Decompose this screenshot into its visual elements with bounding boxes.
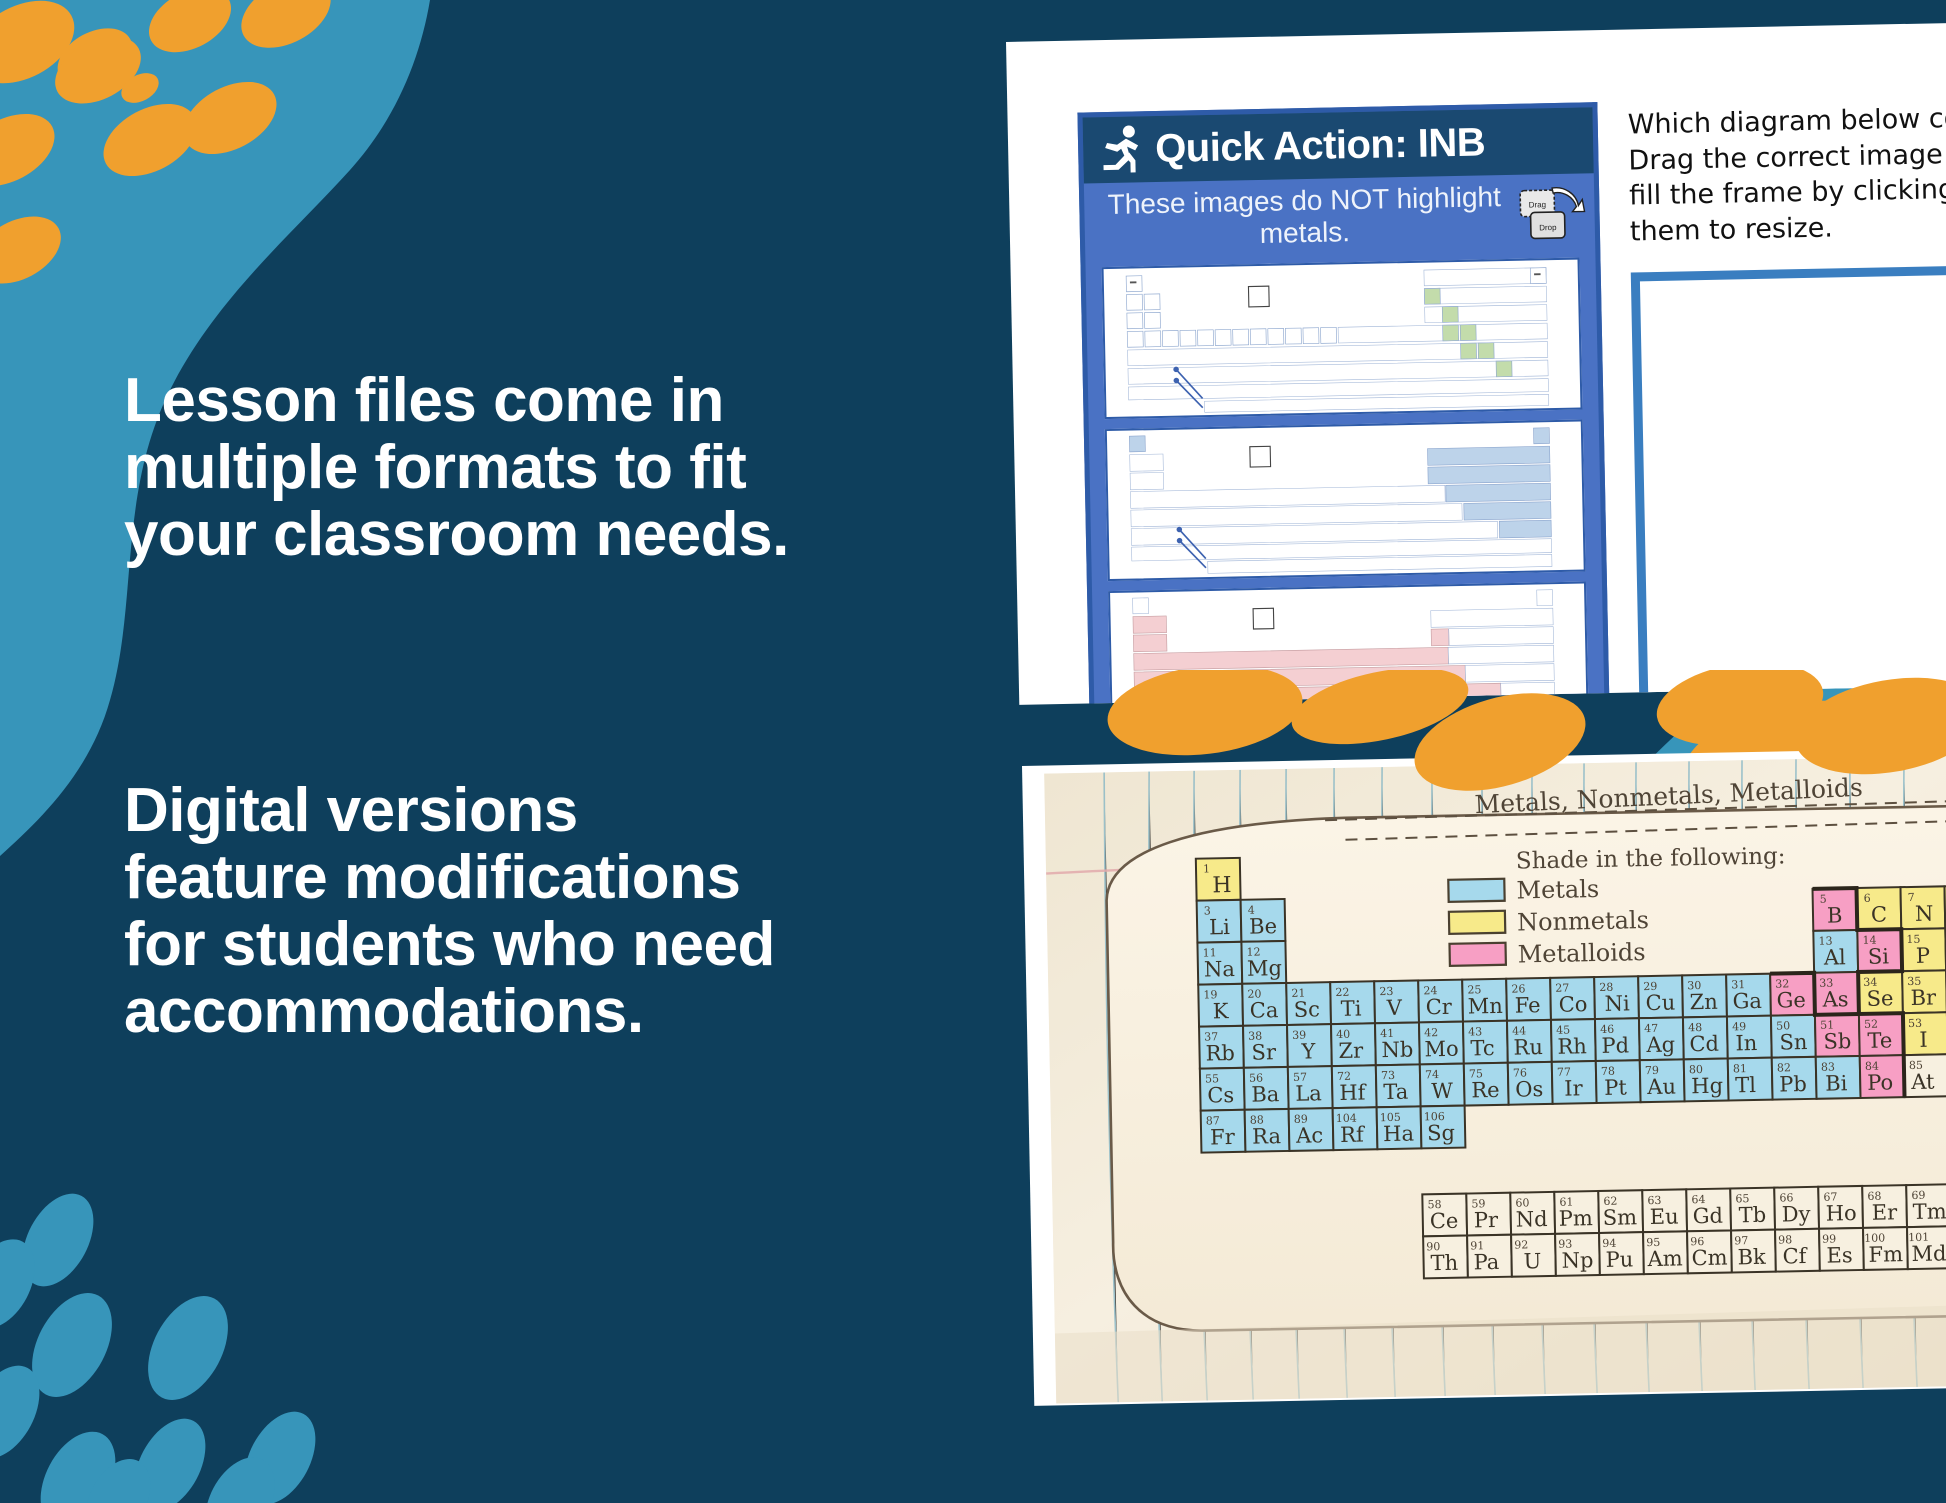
pt-cell: 42Mo xyxy=(1419,1022,1464,1065)
svg-text:Pt: Pt xyxy=(1604,1075,1628,1099)
svg-text:Hf: Hf xyxy=(1339,1080,1368,1105)
student-notebook-photo: Metals, Nonmetals, Metalloids Shade in t… xyxy=(1044,754,1946,1403)
pt-cell: 5B xyxy=(1813,888,1858,931)
svg-text:I: I xyxy=(1919,1028,1928,1052)
svg-text:Ca: Ca xyxy=(1250,998,1279,1023)
pt-cell: 62Sm xyxy=(1598,1190,1643,1233)
pt-cell: 99Es xyxy=(1819,1228,1864,1271)
svg-text:Sb: Sb xyxy=(1823,1029,1851,1054)
pt-cell: 64Gd xyxy=(1686,1188,1731,1231)
pt-cell: 69Tm xyxy=(1906,1184,1946,1227)
svg-text:Th: Th xyxy=(1430,1251,1458,1276)
pt-cell: 67Ho xyxy=(1818,1186,1863,1229)
pt-cell: 81Tl xyxy=(1728,1058,1773,1101)
svg-text:Gd: Gd xyxy=(1693,1204,1724,1229)
pt-cell: 89Ac xyxy=(1289,1108,1334,1151)
pt-cell: 52Te xyxy=(1859,1013,1904,1056)
svg-text:Re: Re xyxy=(1471,1078,1500,1103)
pt-cell: 94Pu xyxy=(1599,1232,1644,1275)
pt-cell: 82Pb xyxy=(1772,1057,1817,1100)
pt-cell: 98Cf xyxy=(1775,1229,1820,1272)
svg-text:6: 6 xyxy=(1864,892,1871,905)
pt-cell: 59Pr xyxy=(1466,1193,1511,1236)
headline-line: Digital versions xyxy=(124,778,864,845)
svg-text:Nb: Nb xyxy=(1381,1038,1413,1063)
svg-text:Ce: Ce xyxy=(1430,1209,1459,1234)
svg-text:Rb: Rb xyxy=(1205,1041,1235,1066)
svg-text:V: V xyxy=(1385,996,1402,1020)
quick-action-header: Quick Action: INB xyxy=(1083,107,1594,183)
svg-text:5: 5 xyxy=(1820,893,1827,906)
pt-cell: 79Au xyxy=(1640,1059,1685,1102)
pt-cell: 25Mn xyxy=(1462,979,1507,1022)
pt-cell: 53I xyxy=(1903,1012,1946,1055)
svg-text:Na: Na xyxy=(1204,957,1235,982)
svg-text:Zn: Zn xyxy=(1689,990,1718,1015)
svg-text:Ga: Ga xyxy=(1732,989,1762,1014)
quick-action-subtitle: These images do NOT highlight metals. xyxy=(1107,181,1501,249)
pt-cell: 3 Li xyxy=(1197,900,1242,943)
periodic-table-thumbnail[interactable] xyxy=(1102,257,1583,419)
pt-cell: 43Tc xyxy=(1463,1021,1508,1064)
svg-text:In: In xyxy=(1735,1031,1757,1055)
svg-text:Sg: Sg xyxy=(1427,1121,1455,1146)
pt-cell: 85At xyxy=(1904,1054,1946,1097)
pt-cell: 14Si xyxy=(1857,929,1902,972)
pt-cell: 50Sn xyxy=(1771,1015,1816,1058)
pt-cell: 41Nb xyxy=(1375,1022,1420,1065)
svg-text:Ge: Ge xyxy=(1776,988,1806,1013)
pt-cell: 27Co xyxy=(1550,977,1595,1020)
pt-cell: 44Ru xyxy=(1507,1020,1552,1063)
svg-text:Co: Co xyxy=(1558,992,1587,1017)
svg-text:Se: Se xyxy=(1866,986,1893,1011)
svg-text:Fe: Fe xyxy=(1514,993,1540,1017)
pt-cell: 77Ir xyxy=(1552,1061,1597,1104)
svg-text:Es: Es xyxy=(1826,1243,1853,1267)
legend-prompt: Shade in the following: xyxy=(1516,843,1786,874)
drag-drop-icon[interactable]: Drag Drop xyxy=(1516,181,1589,244)
svg-text:Te: Te xyxy=(1867,1028,1892,1052)
pt-cell: 45Rh xyxy=(1551,1019,1596,1062)
headline-block-2: Digital versions feature modifications f… xyxy=(124,778,864,1046)
legend-swatch-nonmetals: Nonmetals xyxy=(1449,906,1649,938)
svg-text:At: At xyxy=(1910,1070,1935,1094)
headline-line: multiple formats to fit xyxy=(124,435,864,502)
svg-text:Pu: Pu xyxy=(1605,1247,1633,1272)
pt-cell: 11 Na xyxy=(1197,942,1242,985)
pt-cell: 33As xyxy=(1814,972,1859,1015)
svg-text:La: La xyxy=(1295,1081,1322,1106)
svg-text:Tl: Tl xyxy=(1735,1073,1756,1097)
pt-cell: 20Ca xyxy=(1242,983,1287,1026)
pt-cell: 93Np xyxy=(1555,1233,1600,1276)
pt-cell: 55Cs xyxy=(1200,1068,1245,1111)
svg-text:Au: Au xyxy=(1646,1075,1676,1100)
svg-text:Ti: Ti xyxy=(1340,997,1361,1021)
svg-text:Cd: Cd xyxy=(1689,1032,1719,1057)
svg-text:Sr: Sr xyxy=(1251,1040,1277,1064)
svg-text:Pm: Pm xyxy=(1559,1206,1594,1231)
pt-cell: 51Sb xyxy=(1815,1014,1860,1057)
svg-text:Mg: Mg xyxy=(1247,956,1282,981)
svg-text:Ac: Ac xyxy=(1295,1123,1323,1148)
svg-text:Si: Si xyxy=(1868,944,1890,968)
svg-text:Nd: Nd xyxy=(1516,1207,1548,1232)
pt-cell: 88Ra xyxy=(1245,1109,1290,1152)
pt-cell: 31Ga xyxy=(1726,974,1771,1017)
pt-cell: 48Cd xyxy=(1683,1017,1728,1060)
svg-text:Ba: Ba xyxy=(1251,1082,1279,1107)
pt-cell: 80Hg xyxy=(1684,1059,1729,1102)
svg-text:Hg: Hg xyxy=(1691,1074,1723,1099)
svg-text:Pd: Pd xyxy=(1601,1033,1629,1058)
svg-text:Cm: Cm xyxy=(1691,1246,1728,1271)
pt-cell: 28Ni xyxy=(1594,976,1639,1019)
pt-cell: 105Ha xyxy=(1377,1106,1422,1149)
pt-cell: 95Am xyxy=(1643,1231,1688,1274)
pt-cell: 97Bk xyxy=(1731,1230,1776,1273)
svg-text:P: P xyxy=(1916,944,1931,968)
svg-text:Li: Li xyxy=(1209,915,1230,939)
pt-cell: 66Dy xyxy=(1774,1187,1819,1230)
running-person-icon xyxy=(1099,124,1144,175)
svg-text:Metals: Metals xyxy=(1516,875,1599,905)
svg-text:U: U xyxy=(1523,1249,1541,1273)
svg-text:As: As xyxy=(1821,987,1848,1012)
orange-seam-blobs xyxy=(1100,670,1946,800)
pt-cell: 104Rf xyxy=(1333,1107,1378,1150)
svg-text:Zr: Zr xyxy=(1338,1038,1364,1062)
svg-text:Np: Np xyxy=(1561,1248,1593,1273)
quick-action-subtitle-wrap: These images do NOT highlight metals. Dr… xyxy=(1084,173,1595,257)
pt-cell: 87Fr xyxy=(1201,1110,1246,1153)
svg-text:Sc: Sc xyxy=(1294,997,1321,1021)
svg-text:Drop: Drop xyxy=(1539,223,1557,232)
pt-cell: 76Os xyxy=(1508,1062,1553,1105)
pt-cell: 21Sc xyxy=(1286,982,1331,1025)
svg-text:Ni: Ni xyxy=(1604,991,1630,1015)
pt-cell: 56Ba xyxy=(1244,1067,1289,1110)
svg-text:Ra: Ra xyxy=(1252,1124,1281,1149)
quick-action-right-column: Which diagram below cor Drag the correct… xyxy=(1627,96,1946,705)
svg-text:Sn: Sn xyxy=(1779,1030,1807,1055)
svg-text:Metalloids: Metalloids xyxy=(1517,938,1645,968)
svg-text:Eu: Eu xyxy=(1650,1204,1679,1229)
quick-action-slide[interactable]: Quick Action: INB These images do NOT hi… xyxy=(1006,22,1946,705)
headline-line: feature modifications xyxy=(124,845,864,912)
svg-text:Ir: Ir xyxy=(1564,1076,1584,1100)
pt-cell: 30Zn xyxy=(1682,975,1727,1018)
svg-text:Cf: Cf xyxy=(1782,1244,1809,1268)
svg-text:Ta: Ta xyxy=(1383,1080,1408,1104)
headline-line: accommodations. xyxy=(124,979,864,1046)
svg-text:Er: Er xyxy=(1872,1200,1899,1225)
legend-swatch-metals: Metals xyxy=(1448,875,1599,906)
pt-cell: 38Sr xyxy=(1243,1025,1288,1068)
pt-cell: 84Po xyxy=(1860,1055,1905,1098)
pt-cell: 100Fm xyxy=(1863,1227,1908,1270)
svg-text:Dy: Dy xyxy=(1782,1202,1811,1227)
svg-text:Al: Al xyxy=(1823,945,1847,969)
pt-cell: 1 H xyxy=(1196,858,1241,901)
pt-cell: 75Re xyxy=(1464,1063,1509,1106)
pt-cell: 78Pt xyxy=(1596,1060,1641,1103)
svg-text:Mo: Mo xyxy=(1424,1037,1459,1062)
quick-action-title: Quick Action: INB xyxy=(1155,120,1486,172)
quick-action-panel: Quick Action: INB These images do NOT hi… xyxy=(1077,102,1611,705)
svg-text:Fm: Fm xyxy=(1868,1242,1903,1267)
pt-cell: 83Bi xyxy=(1816,1056,1861,1099)
svg-text:Md: Md xyxy=(1911,1241,1946,1266)
pt-cell: 37Rb xyxy=(1199,1026,1244,1069)
svg-text:Br: Br xyxy=(1910,985,1937,1010)
pt-cell: 46Pd xyxy=(1595,1018,1640,1061)
pt-cell: 96Cm xyxy=(1687,1230,1732,1273)
pt-cell: 74W xyxy=(1420,1064,1465,1107)
periodic-table-thumbnail[interactable] xyxy=(1105,419,1586,581)
periodic-table-nonmetals-highlighted xyxy=(1107,421,1584,578)
empty-answer-frame[interactable] xyxy=(1631,263,1946,705)
svg-text:B: B xyxy=(1827,903,1843,927)
svg-text:Tb: Tb xyxy=(1739,1203,1767,1228)
pt-cell: 91Pa xyxy=(1467,1235,1512,1278)
svg-text:Po: Po xyxy=(1867,1070,1893,1094)
pt-cell: 26Fe xyxy=(1506,978,1551,1021)
legend-swatch-metalloids: Metalloids xyxy=(1449,938,1645,970)
pt-cell: 13Al xyxy=(1813,930,1858,973)
svg-text:Ho: Ho xyxy=(1826,1201,1857,1226)
svg-text:Os: Os xyxy=(1515,1077,1543,1102)
pt-cell: 40Zr xyxy=(1331,1023,1376,1066)
pt-cell: 4 Be xyxy=(1241,899,1286,942)
svg-text:Fr: Fr xyxy=(1210,1125,1236,1149)
pt-cell: 47Ag xyxy=(1639,1017,1684,1060)
svg-text:W: W xyxy=(1431,1079,1453,1103)
svg-text:Drag: Drag xyxy=(1529,200,1547,209)
pt-cell: 92U xyxy=(1511,1234,1556,1277)
pt-cell: 39Y xyxy=(1287,1024,1332,1067)
svg-text:Pa: Pa xyxy=(1473,1250,1499,1274)
pt-cell: 65Tb xyxy=(1730,1188,1775,1231)
notebook-photo-slide[interactable]: Metals, Nonmetals, Metalloids Shade in t… xyxy=(1022,747,1946,1406)
svg-text:Cr: Cr xyxy=(1425,995,1453,1020)
svg-text:Ag: Ag xyxy=(1645,1033,1675,1058)
svg-text:Rh: Rh xyxy=(1557,1034,1587,1059)
pt-cell: 72Hf xyxy=(1332,1065,1377,1108)
svg-text:Mn: Mn xyxy=(1467,994,1502,1019)
pt-cell: 32Ge xyxy=(1770,973,1815,1016)
pt-cell: 57La xyxy=(1288,1066,1333,1109)
svg-text:H: H xyxy=(1212,873,1232,898)
pt-cell: 15P xyxy=(1901,928,1946,971)
pt-cell: 19K xyxy=(1198,984,1243,1027)
pt-cell: 34Se xyxy=(1858,971,1903,1014)
svg-text:C: C xyxy=(1871,902,1888,926)
svg-text:K: K xyxy=(1213,999,1229,1023)
svg-text:Ru: Ru xyxy=(1513,1035,1543,1060)
pt-cell: 24Cr xyxy=(1418,980,1463,1023)
headline-line: Lesson files come in xyxy=(124,368,864,435)
svg-text:N: N xyxy=(1915,902,1934,926)
svg-text:Cu: Cu xyxy=(1645,991,1675,1016)
headline-line: your classroom needs. xyxy=(124,502,864,569)
pt-cell: 73Ta xyxy=(1376,1064,1421,1107)
svg-text:Cs: Cs xyxy=(1207,1083,1234,1108)
pt-cell: 68Er xyxy=(1862,1185,1907,1228)
pt-cell: 35Br xyxy=(1902,970,1946,1013)
pt-cell: 58Ce xyxy=(1422,1194,1467,1237)
pt-cell: 7N xyxy=(1900,886,1945,929)
svg-text:7: 7 xyxy=(1908,891,1915,904)
pt-cell: 90Th xyxy=(1423,1236,1468,1279)
svg-text:Tm: Tm xyxy=(1912,1199,1946,1224)
periodic-table-metalloids-highlighted xyxy=(1104,259,1581,416)
svg-text:Y: Y xyxy=(1300,1039,1316,1063)
pt-cell: 61Pm xyxy=(1554,1191,1599,1234)
svg-text:Pb: Pb xyxy=(1779,1072,1807,1097)
svg-text:Am: Am xyxy=(1646,1246,1683,1271)
svg-text:Nonmetals: Nonmetals xyxy=(1517,906,1649,937)
svg-text:Sm: Sm xyxy=(1603,1205,1638,1230)
pt-cell: 12 Mg xyxy=(1241,941,1286,984)
svg-text:Ha: Ha xyxy=(1383,1122,1414,1147)
pt-cell: 29Cu xyxy=(1638,975,1683,1018)
pt-cell: 101Md xyxy=(1907,1226,1946,1269)
svg-text:Rf: Rf xyxy=(1340,1122,1366,1146)
svg-text:Bi: Bi xyxy=(1825,1071,1848,1095)
svg-text:Tc: Tc xyxy=(1470,1036,1495,1060)
pt-cell: 106Sg xyxy=(1421,1106,1466,1149)
svg-text:1: 1 xyxy=(1203,862,1210,875)
pt-cell: 60Nd xyxy=(1510,1192,1555,1235)
svg-text:Bk: Bk xyxy=(1737,1245,1766,1270)
pt-cell: 49In xyxy=(1727,1016,1772,1059)
svg-text:Be: Be xyxy=(1249,914,1277,939)
pt-cell: 22Ti xyxy=(1330,981,1375,1024)
headline-block-1: Lesson files come in multiple formats to… xyxy=(124,368,864,569)
pt-cell: 63Eu xyxy=(1642,1189,1687,1232)
pt-cell: 23V xyxy=(1374,980,1419,1023)
instructions-text: Which diagram below cor Drag the correct… xyxy=(1627,96,1946,250)
pt-cell: 6C xyxy=(1856,887,1901,930)
headline-line: for students who need xyxy=(124,912,864,979)
svg-text:Pr: Pr xyxy=(1474,1208,1500,1232)
instruction-line: Which diagram below cor xyxy=(1627,96,1946,143)
